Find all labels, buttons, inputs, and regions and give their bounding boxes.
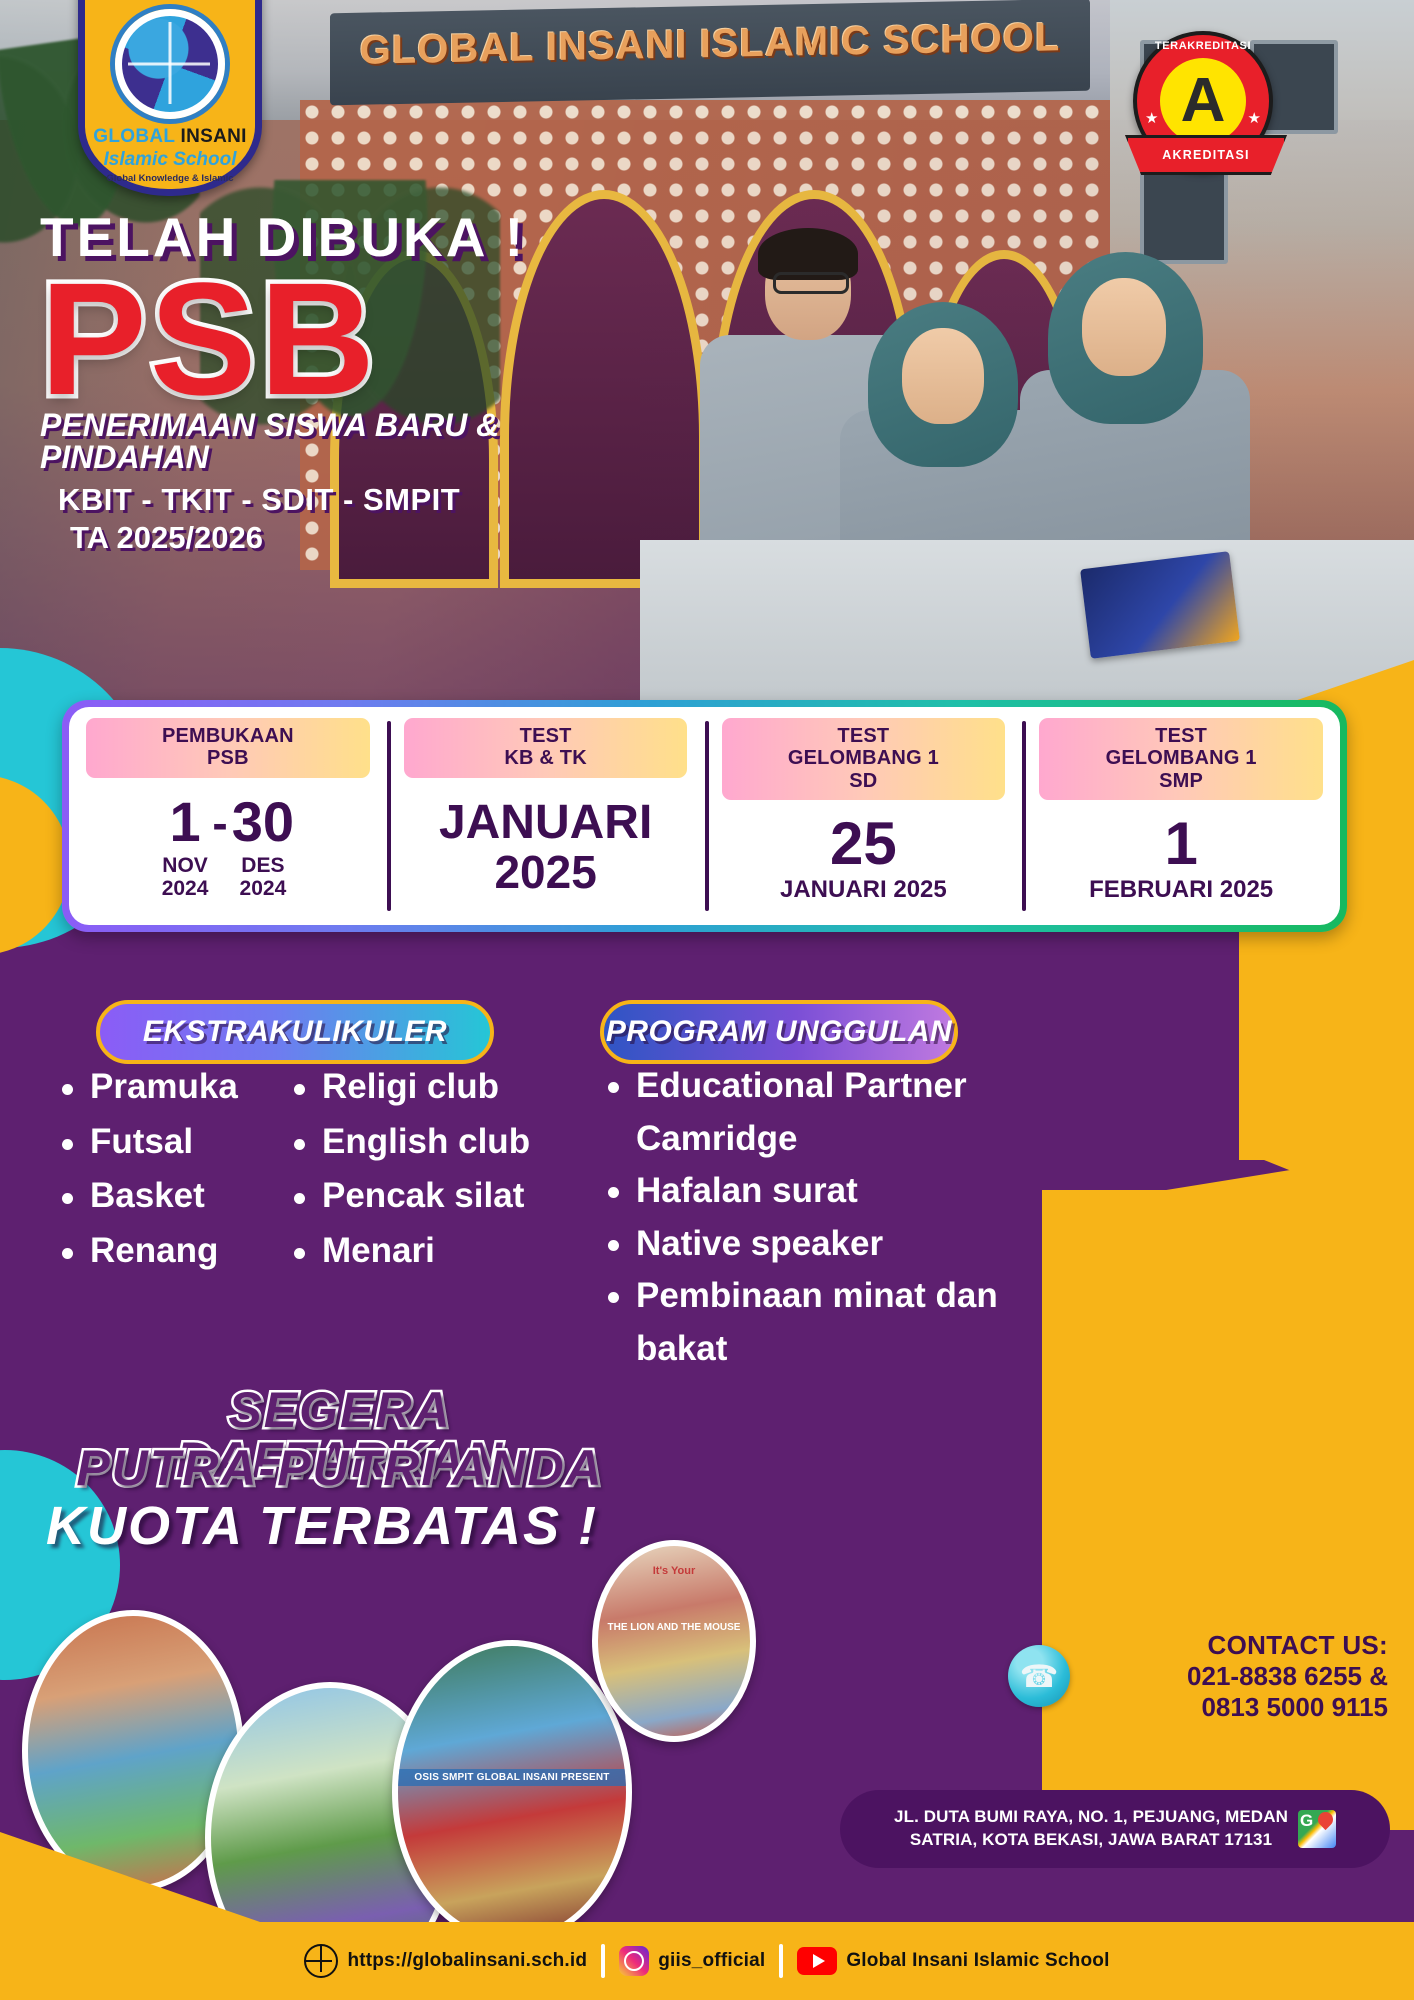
- list-item: Educational Partner Camridge: [600, 1060, 1030, 1165]
- logo-tagline: Global Knowledge & Islamic: [106, 173, 233, 184]
- accreditation-ribbon: AKREDITASI: [1125, 135, 1287, 175]
- logo-word-global: GLOBAL: [93, 126, 180, 147]
- test-monthyear: FEBRUARI 2025: [1089, 876, 1273, 904]
- list-item: Pencak silat: [290, 1169, 590, 1224]
- instagram-ring: [624, 1951, 644, 1971]
- schedule-cell-pembukaan: PEMBUKAANPSB 1 NOV 2024 - 30 DES 2024: [69, 707, 387, 925]
- list-item: Pramuka: [58, 1060, 288, 1115]
- globe-icon: [304, 1944, 338, 1978]
- footer-divider: [779, 1944, 783, 1978]
- footer-instagram[interactable]: giis_official: [619, 1946, 765, 1976]
- headline-academic-year: TA 2025/2026: [70, 520, 526, 556]
- test-day: 1: [1164, 814, 1197, 874]
- headline-subtitle-2: PINDAHAN: [40, 440, 526, 476]
- footer-website[interactable]: https://globalinsani.sch.id: [304, 1944, 587, 1978]
- end-month: DES: [241, 854, 284, 877]
- test-monthyear: JANUARI 2025: [780, 876, 947, 904]
- start-year: 2024: [162, 877, 209, 900]
- schedule-value: 1 NOV 2024 - 30 DES 2024: [77, 778, 379, 917]
- range-dash: -: [212, 794, 227, 846]
- list-item: English club: [290, 1115, 590, 1170]
- star-icon: ★: [1145, 109, 1158, 127]
- logo-script: Islamic School: [103, 149, 236, 171]
- list-item: Native speaker: [600, 1218, 1030, 1271]
- contact-text: CONTACT US: 021-8838 6255 & 0813 5000 91…: [1084, 1630, 1388, 1722]
- instagram-icon: [619, 1946, 649, 1976]
- face: [1082, 278, 1166, 376]
- psb-poster: GLOBAL INSANI ISLAMIC SCHOOL: [0, 0, 1414, 2000]
- school-logo-badge: GLOBAL INSANI Islamic School Global Know…: [78, 0, 262, 196]
- end-year: 2024: [240, 877, 287, 900]
- schedule-cell-kbtk: TESTKB & TK JANUARI 2025: [387, 707, 705, 925]
- accreditation-grade: A: [1181, 70, 1226, 132]
- play-icon: [813, 1954, 825, 1968]
- schedule-label: TESTGELOMBANG 1SD: [722, 718, 1006, 800]
- date-range: 1 NOV 2024 - 30 DES 2024: [77, 794, 379, 900]
- contact-phone-1[interactable]: 021-8838 6255 &: [1084, 1661, 1388, 1692]
- grade-disc: A: [1160, 58, 1246, 144]
- phone-glyph: ☎: [1020, 1661, 1059, 1692]
- start-month: NOV: [162, 854, 208, 877]
- schedule-label: PEMBUKAANPSB: [86, 718, 370, 778]
- end-day: 30: [232, 794, 294, 850]
- cta-line-2: PUTRA-PUTRI ANDA: [60, 1443, 620, 1493]
- schedule-cell-smp: TESTGELOMBANG 1SMP 1 FEBRUARI 2025: [1022, 707, 1340, 925]
- gallery-caption: OSIS SMPIT GLOBAL INSANI PRESENT: [398, 1769, 626, 1786]
- schedule-value: JANUARI 2025: [395, 778, 697, 917]
- website-url: https://globalinsani.sch.id: [347, 1950, 587, 1972]
- range-end: 30 DES 2024: [232, 794, 294, 900]
- range-start: 1 NOV 2024: [162, 794, 209, 900]
- extracurricular-column-1: Pramuka Futsal Basket Renang: [58, 1060, 288, 1278]
- gallery-photo-drama: It's Your THE LION AND THE MOUSE: [592, 1540, 756, 1742]
- social-footer: https://globalinsani.sch.id giis_officia…: [0, 1922, 1414, 2000]
- glasses: [773, 272, 849, 294]
- list-item: Futsal: [58, 1115, 288, 1170]
- globe-icon: [115, 9, 225, 119]
- schedule-label: TESTKB & TK: [404, 718, 688, 778]
- address-text: JL. DUTA BUMI RAYA, NO. 1, PEJUANG, MEDA…: [894, 1806, 1288, 1852]
- address-line-2: SATRIA, KOTA BEKASI, JAWA BARAT 17131: [894, 1829, 1288, 1852]
- contact-phone-2[interactable]: 0813 5000 9115: [1084, 1692, 1388, 1723]
- address-line-1: JL. DUTA BUMI RAYA, NO. 1, PEJUANG, MEDA…: [894, 1806, 1288, 1829]
- accreditation-badge: TERAKREDITASI ★ ★ A AKREDITASI: [1133, 31, 1273, 171]
- headline-block: TELAH DIBUKA ! PSB PENERIMAAN SISWA BARU…: [40, 205, 526, 556]
- programs-title-pill: PROGRAM UNGGULAN: [600, 1000, 958, 1064]
- list-item: Renang: [58, 1224, 288, 1279]
- cta-line-3: KUOTA TERBATAS !: [42, 1495, 602, 1557]
- list-item: Religi club: [290, 1060, 590, 1115]
- list-item: Pembinaan minat dan bakat: [600, 1270, 1030, 1375]
- gallery-caption-top: It's Your: [598, 1565, 750, 1577]
- phone-icon: ☎: [1008, 1645, 1070, 1707]
- test-month: JANUARI: [439, 799, 652, 848]
- schedule-value: 1 FEBRUARI 2025: [1030, 800, 1332, 917]
- gallery-caption-body: THE LION AND THE MOUSE: [598, 1622, 750, 1633]
- schedule-cell-sd: TESTGELOMBANG 1SD 25 JANUARI 2025: [705, 707, 1023, 925]
- contact-panel: [1042, 1190, 1414, 1830]
- star-icon: ★: [1248, 109, 1261, 127]
- schedule-label: TESTGELOMBANG 1SMP: [1039, 718, 1323, 800]
- footer-divider: [601, 1944, 605, 1978]
- google-maps-icon[interactable]: G: [1298, 1810, 1336, 1848]
- youtube-channel: Global Insani Islamic School: [846, 1950, 1109, 1972]
- logo-word-insani: INSANI: [181, 126, 247, 147]
- schedule-card-inner: PEMBUKAANPSB 1 NOV 2024 - 30 DES 2024: [69, 707, 1340, 925]
- table-surface: [640, 540, 1414, 700]
- map-letter: G: [1300, 1811, 1313, 1831]
- face: [902, 328, 984, 424]
- contact-block[interactable]: ☎ CONTACT US: 021-8838 6255 & 0813 5000 …: [1008, 1630, 1388, 1722]
- list-item: Basket: [58, 1169, 288, 1224]
- brochure: [1080, 551, 1240, 659]
- gallery-photo-performance: OSIS SMPIT GLOBAL INSANI PRESENT: [392, 1640, 632, 1944]
- contact-title: CONTACT US:: [1084, 1630, 1388, 1661]
- footer-youtube[interactable]: Global Insani Islamic School: [797, 1947, 1109, 1975]
- instagram-handle: giis_official: [658, 1950, 765, 1972]
- extracurricular-column-2: Religi club English club Pencak silat Me…: [290, 1060, 590, 1278]
- extracurricular-title-pill: EKSTRAKULIKULER: [96, 1000, 494, 1064]
- address-bar[interactable]: JL. DUTA BUMI RAYA, NO. 1, PEJUANG, MEDA…: [840, 1790, 1390, 1868]
- schedule-value: 25 JANUARI 2025: [713, 800, 1015, 917]
- schedule-card: PEMBUKAANPSB 1 NOV 2024 - 30 DES 2024: [62, 700, 1347, 932]
- headline-title: PSB: [40, 265, 526, 412]
- test-year: 2025: [494, 848, 596, 896]
- list-item: Hafalan surat: [600, 1165, 1030, 1218]
- map-pin-icon: [1315, 1810, 1336, 1830]
- headline-levels: KBIT - TKIT - SDIT - SMPIT: [58, 482, 526, 518]
- test-day: 25: [830, 814, 897, 874]
- start-day: 1: [169, 794, 200, 850]
- programs-list: Educational Partner Camridge Hafalan sur…: [600, 1060, 1030, 1375]
- accreditation-label: TERAKREDITASI: [1133, 40, 1273, 52]
- list-item: Menari: [290, 1224, 590, 1279]
- youtube-icon: [797, 1947, 837, 1975]
- logo-wordmark: GLOBAL INSANI: [93, 126, 246, 148]
